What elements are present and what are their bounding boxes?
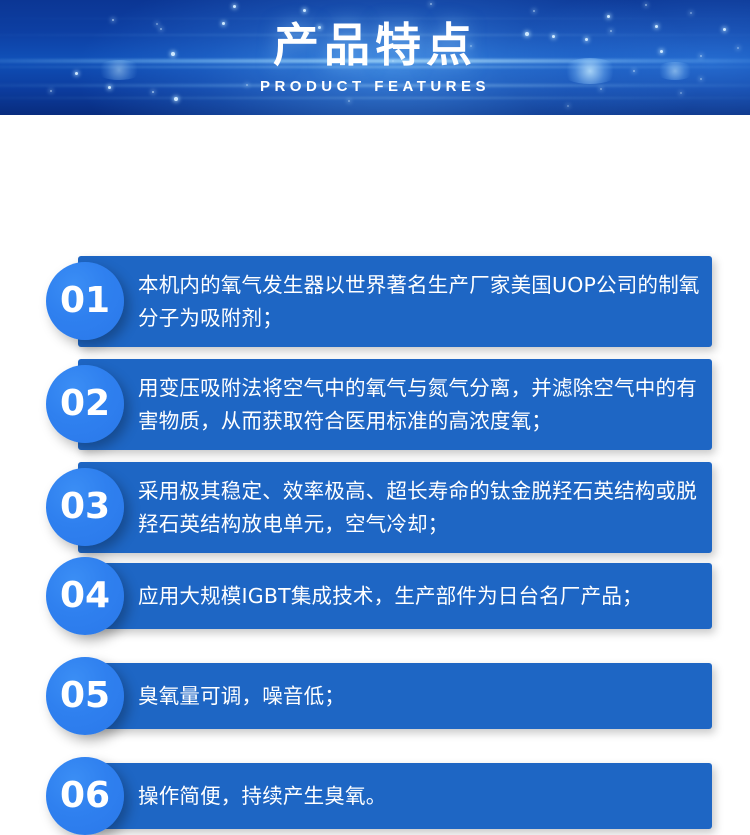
feature-text: 采用极其稳定、效率极高、超长寿命的钛金脱羟石英结构或脱羟石英结构放电单元，空气冷… bbox=[138, 475, 706, 541]
feature-bar: 臭氧量可调，噪音低； bbox=[78, 663, 712, 729]
page-header-banner: 产品特点 PRODUCT FEATURES bbox=[0, 0, 750, 115]
feature-number: 06 bbox=[60, 778, 110, 814]
page-title: 产品特点 bbox=[273, 22, 477, 68]
feature-text: 用变压吸附法将空气中的氧气与氮气分离，并滤除空气中的有害物质，从而获取符合医用标… bbox=[138, 372, 706, 438]
product-features-page: 产品特点 PRODUCT FEATURES 本机内的氧气发生器以世界著名生产厂家… bbox=[0, 0, 750, 780]
feature-number-badge: 04 bbox=[46, 557, 124, 635]
feature-bar: 应用大规模IGBT集成技术，生产部件为日台名厂产品； bbox=[78, 563, 712, 629]
feature-number-badge: 05 bbox=[46, 657, 124, 735]
feature-bar: 本机内的氧气发生器以世界著名生产厂家美国UOP公司的制氧分子为吸附剂； bbox=[78, 256, 712, 347]
header-text-block: 产品特点 PRODUCT FEATURES bbox=[0, 0, 750, 115]
feature-number: 04 bbox=[60, 578, 110, 614]
page-subtitle: PRODUCT FEATURES bbox=[260, 79, 490, 94]
feature-number: 02 bbox=[60, 386, 110, 422]
feature-number-badge: 01 bbox=[46, 262, 124, 340]
feature-bar: 采用极其稳定、效率极高、超长寿命的钛金脱羟石英结构或脱羟石英结构放电单元，空气冷… bbox=[78, 462, 712, 553]
feature-number: 03 bbox=[60, 489, 110, 525]
feature-bar: 用变压吸附法将空气中的氧气与氮气分离，并滤除空气中的有害物质，从而获取符合医用标… bbox=[78, 359, 712, 450]
feature-number: 05 bbox=[60, 678, 110, 714]
feature-number-badge: 06 bbox=[46, 757, 124, 835]
feature-bar: 操作简便，持续产生臭氧。 bbox=[78, 763, 712, 829]
feature-text: 臭氧量可调，噪音低； bbox=[138, 680, 345, 713]
feature-text: 操作简便，持续产生臭氧。 bbox=[138, 780, 386, 813]
feature-number-badge: 03 bbox=[46, 468, 124, 546]
feature-number: 01 bbox=[60, 283, 110, 319]
feature-number-badge: 02 bbox=[46, 365, 124, 443]
feature-text: 本机内的氧气发生器以世界著名生产厂家美国UOP公司的制氧分子为吸附剂； bbox=[138, 269, 706, 335]
feature-text: 应用大规模IGBT集成技术，生产部件为日台名厂产品； bbox=[138, 580, 643, 613]
